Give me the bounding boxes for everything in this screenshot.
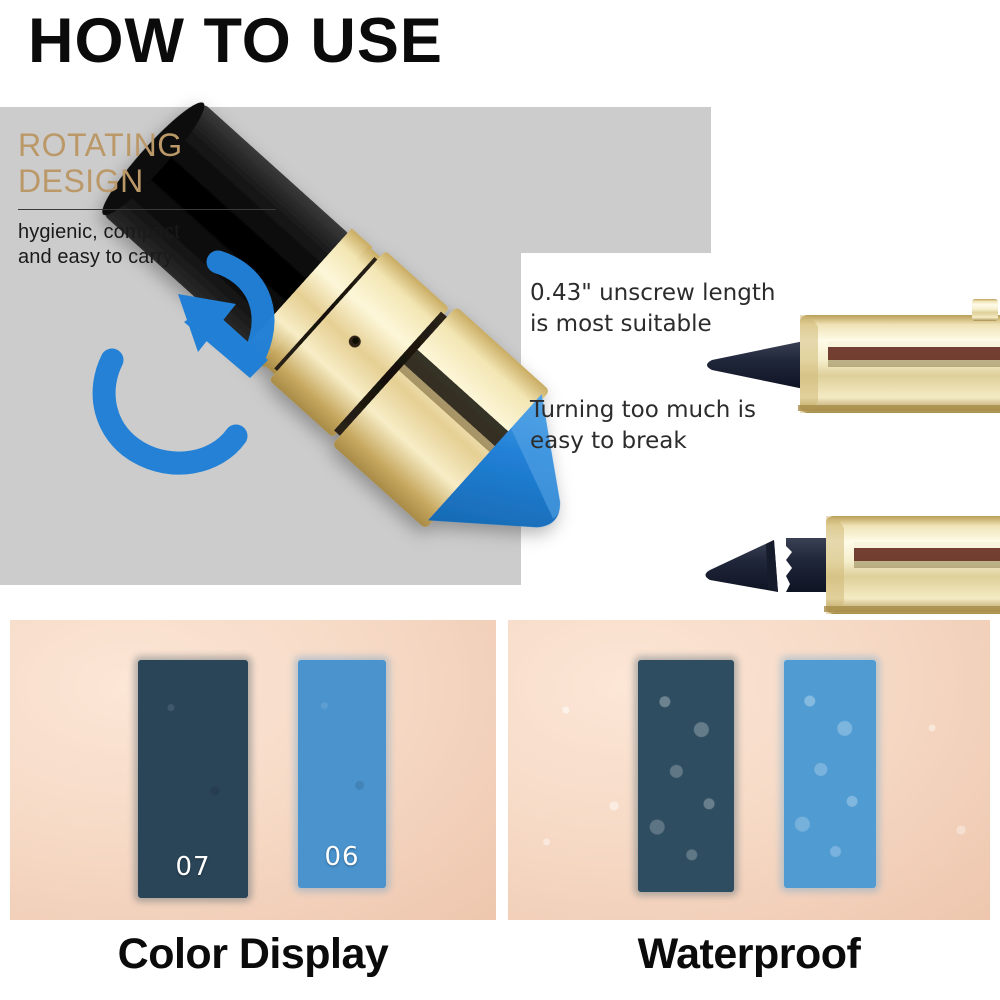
rotating-design-heading-line1: ROTATING bbox=[18, 128, 298, 164]
instructions-block: 0.43" unscrew length is most suitable Tu… bbox=[530, 278, 870, 456]
instructions-spacer bbox=[530, 339, 870, 395]
rotating-design-subtext-line2: and easy to carry bbox=[18, 245, 298, 271]
caption-waterproof: Waterproof bbox=[508, 925, 990, 985]
swatch-07-label: 07 bbox=[138, 852, 248, 882]
swatch-06: 06 bbox=[298, 660, 386, 888]
rotating-design-heading: ROTATING DESIGN bbox=[18, 128, 298, 200]
instruction-2-line1: Turning too much is bbox=[530, 395, 870, 426]
rotating-design-subtext-line1: hygienic, compact bbox=[18, 220, 298, 246]
swatch-panel-color-display: 07 06 bbox=[10, 620, 496, 920]
swatch-dark-wet bbox=[638, 660, 734, 892]
swatch-07: 07 bbox=[138, 660, 248, 898]
divider-rule bbox=[18, 209, 276, 210]
skin-background-wet bbox=[508, 620, 990, 920]
instruction-2-line2: easy to break bbox=[530, 426, 870, 457]
rotating-design-block: ROTATING DESIGN hygienic, compact and ea… bbox=[18, 128, 298, 271]
pencil-broken-illustration bbox=[700, 480, 1000, 640]
pencil-broken-svg bbox=[700, 480, 1000, 640]
swatch-06-label: 06 bbox=[298, 842, 386, 872]
page-title: HOW TO USE bbox=[28, 8, 443, 74]
rotating-design-subtext: hygienic, compact and easy to carry bbox=[18, 220, 298, 271]
skin-background bbox=[10, 620, 496, 920]
swatch-panel-waterproof bbox=[508, 620, 990, 920]
rotating-design-heading-line2: DESIGN bbox=[18, 164, 298, 200]
instruction-1-line2: is most suitable bbox=[530, 309, 870, 340]
instruction-1-line1: 0.43" unscrew length bbox=[530, 278, 870, 309]
swatch-blue-wet bbox=[784, 660, 876, 888]
infographic-canvas: HOW TO USE ROTATING DESIGN hygienic, com… bbox=[0, 0, 1000, 1000]
caption-color-display: Color Display bbox=[10, 925, 496, 985]
